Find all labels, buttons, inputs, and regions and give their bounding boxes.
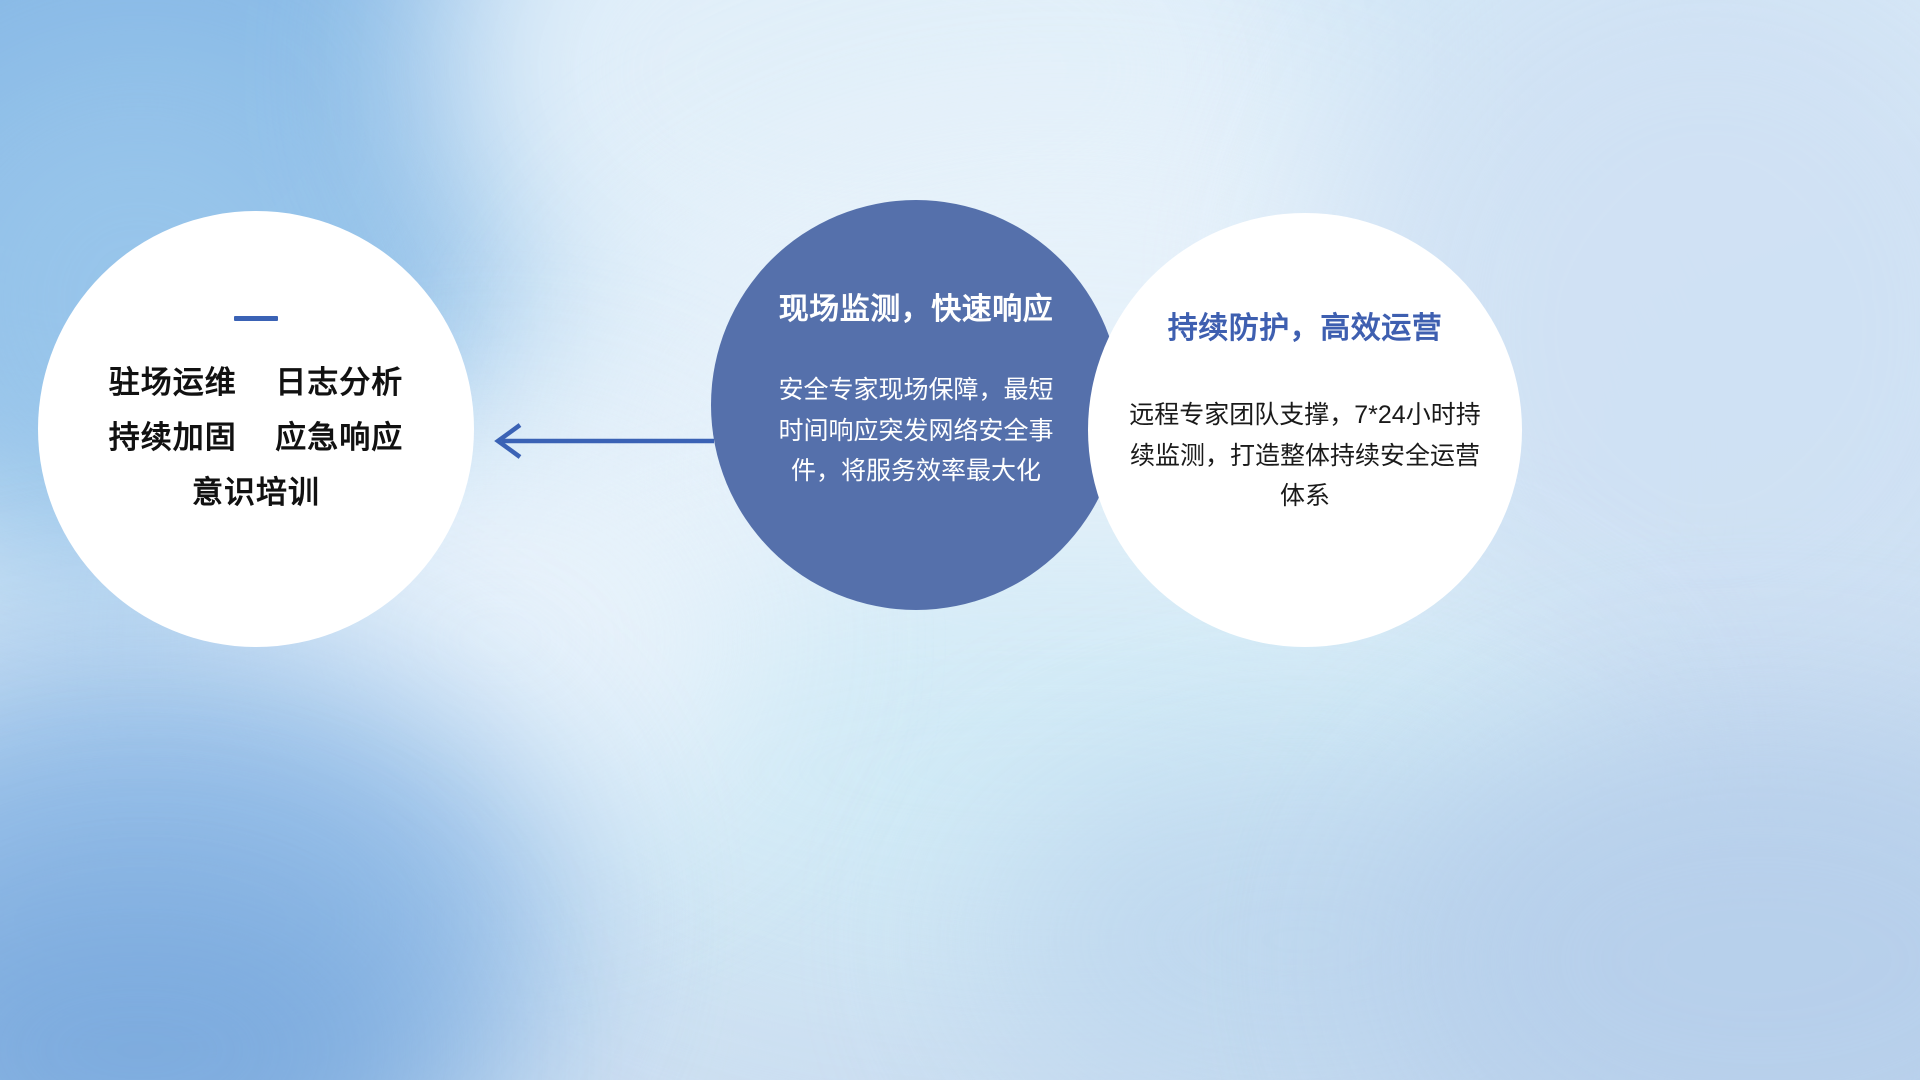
arrow-left-icon: [486, 418, 716, 464]
list-item: 驻场运维 日志分析: [109, 355, 403, 410]
list-item: 意识培训: [109, 465, 403, 520]
middle-circle-title: 现场监测，快速响应: [779, 284, 1054, 328]
list-item: 持续加固 应急响应: [109, 410, 403, 465]
right-circle-title: 持续防护，高效运营: [1168, 303, 1443, 347]
right-operations-circle[interactable]: 持续防护，高效运营 远程专家团队支撑，7*24小时持续监测，打造整体持续安全运营…: [1088, 213, 1522, 647]
middle-onsite-circle[interactable]: 现场监测，快速响应 安全专家现场保障，最短时间响应突发网络安全事件，将服务效率最…: [711, 200, 1121, 610]
left-capability-circle[interactable]: 驻场运维 日志分析 持续加固 应急响应 意识培训: [38, 211, 474, 647]
slide-canvas: 驻场运维 日志分析 持续加固 应急响应 意识培训 现场监测，快速响应 安全专家现…: [0, 0, 1920, 1080]
horizontal-dash-icon: [234, 316, 278, 321]
right-circle-body: 远程专家团队支撑，7*24小时持续监测，打造整体持续安全运营体系: [1125, 395, 1485, 517]
middle-circle-body: 安全专家现场保障，最短时间响应突发网络安全事件，将服务效率最大化: [771, 370, 1061, 492]
left-capability-list: 驻场运维 日志分析 持续加固 应急响应 意识培训: [109, 355, 403, 521]
